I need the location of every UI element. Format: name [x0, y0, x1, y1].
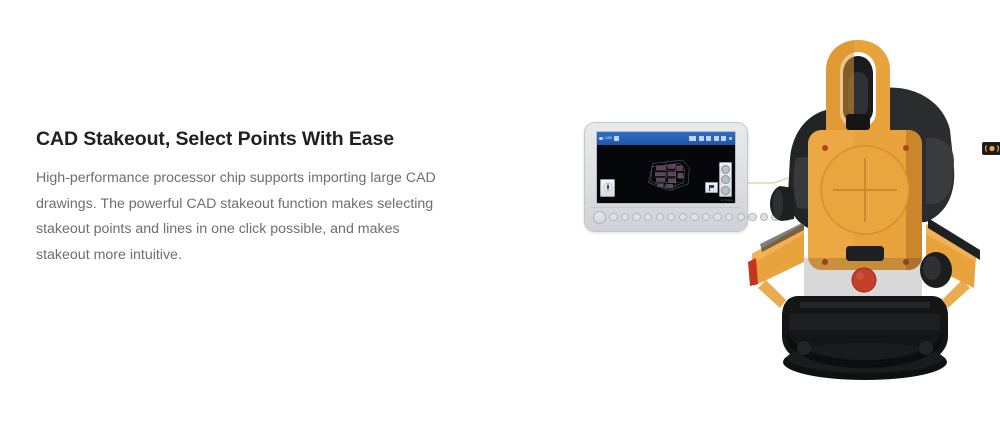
- feature-text-column: CAD Stakeout, Select Points With Ease Hi…: [36, 126, 446, 268]
- file-icon[interactable]: [706, 136, 711, 141]
- keypad-key[interactable]: [656, 213, 664, 221]
- keypad-key[interactable]: [644, 213, 652, 221]
- back-icon[interactable]: [599, 137, 603, 141]
- controller-screen[interactable]: CAD: [596, 131, 736, 204]
- save-icon[interactable]: [721, 136, 726, 141]
- cad-app-title: CAD: [605, 137, 613, 141]
- titlebar-left-group: CAD: [599, 136, 619, 141]
- page-title: CAD Stakeout, Select Points With Ease: [36, 126, 446, 152]
- feature-description: High-performance processor chip supports…: [36, 152, 446, 268]
- keypad-key[interactable]: [632, 213, 640, 221]
- stakeout-flag-icon[interactable]: [705, 182, 718, 193]
- pointer-icon[interactable]: [714, 136, 719, 141]
- keypad-key[interactable]: [702, 213, 710, 221]
- import-icon[interactable]: [689, 136, 696, 141]
- layers-icon[interactable]: [614, 136, 619, 141]
- tablet-seam: [591, 207, 741, 208]
- product-illustration: CAD: [560, 0, 1000, 426]
- keypad-key[interactable]: [667, 213, 675, 221]
- total-station-instrument: Hi-Target: [730, 18, 990, 388]
- zoom-in-icon[interactable]: [721, 165, 730, 174]
- keypad-key[interactable]: [679, 213, 687, 221]
- compass-icon: [603, 182, 613, 192]
- locate-icon[interactable]: [721, 175, 730, 184]
- cad-site-plan: [633, 151, 705, 196]
- compass-widget[interactable]: [600, 179, 615, 197]
- download-icon[interactable]: [699, 136, 704, 141]
- power-key[interactable]: [593, 211, 606, 224]
- keypad-key[interactable]: [713, 213, 721, 221]
- cad-app-titlebar: CAD: [597, 132, 735, 145]
- cad-drawing-canvas[interactable]: Hi-Target: [597, 145, 735, 203]
- keypad-key[interactable]: [690, 213, 698, 221]
- titlebar-toolbar: [689, 136, 733, 141]
- keypad-key[interactable]: [621, 213, 629, 221]
- hi-target-logo-icon: [968, 142, 1000, 155]
- keypad-key[interactable]: [609, 213, 617, 221]
- field-controller-tablet[interactable]: CAD: [584, 122, 748, 232]
- measure-icon[interactable]: [721, 186, 730, 195]
- controller-keypad[interactable]: [593, 209, 739, 225]
- brand-badge: Hi-Target: [982, 142, 1000, 155]
